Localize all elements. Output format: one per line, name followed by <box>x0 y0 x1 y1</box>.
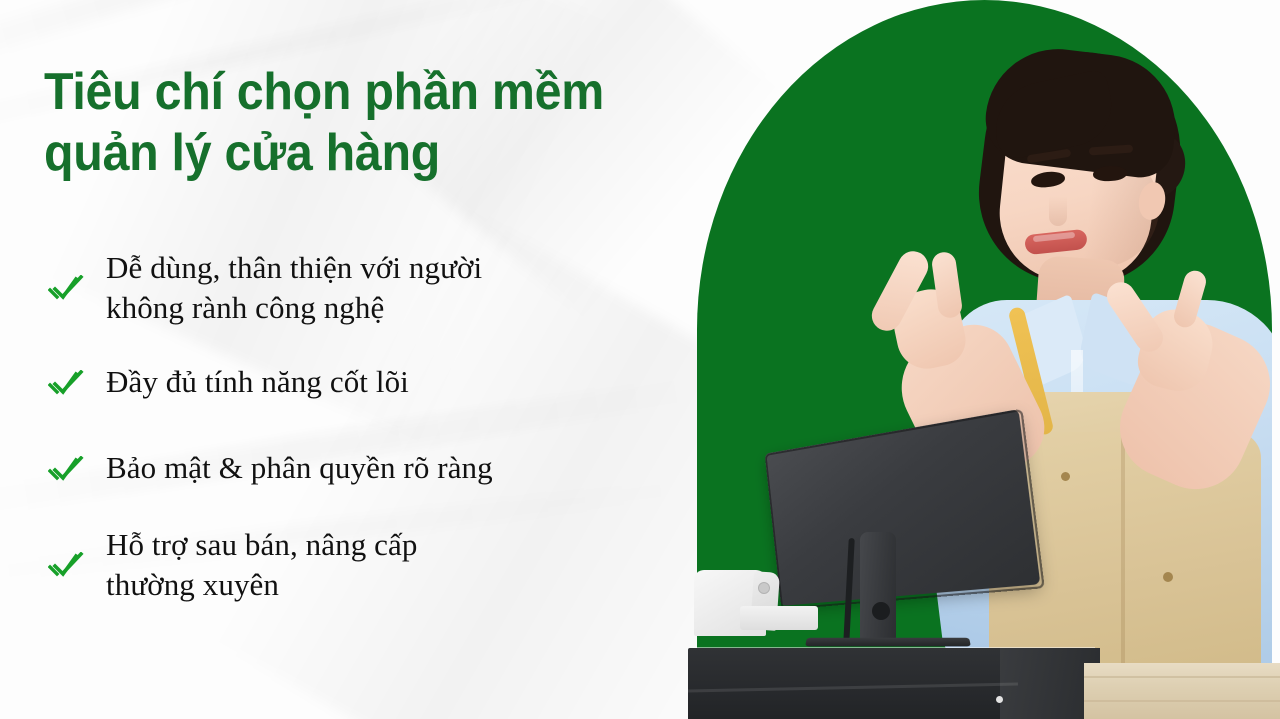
cash-drawer-lock <box>996 696 1003 703</box>
list-item-label: Đầy đủ tính năng cốt lõi <box>106 362 409 402</box>
counter-grain-line-2 <box>1084 700 1280 702</box>
list-item-label: Bảo mật & phân quyền rõ ràng <box>106 448 493 488</box>
wooden-counter <box>1084 663 1280 719</box>
card-reader-button <box>758 582 770 594</box>
counter-grain-line-1 <box>1084 676 1280 678</box>
card-reader-slot <box>740 606 818 630</box>
pos-stand-port <box>872 602 890 620</box>
pos-stand-base <box>805 638 971 647</box>
promo-slide: Tiêu chí chọn phần mềm quản lý cửa hàng … <box>0 0 1280 719</box>
pos-terminal <box>700 420 1120 719</box>
list-item-label: Dễ dùng, thân thiện với người không rành… <box>106 248 482 329</box>
hand-left-pointing <box>873 246 977 374</box>
double-check-icon <box>44 552 106 578</box>
list-item: Bảo mật & phân quyền rõ ràng <box>44 441 704 497</box>
hand-right-pointing <box>1117 270 1227 396</box>
list-item: Dễ dùng, thân thiện với người không rành… <box>44 248 704 329</box>
pos-stand-neck <box>860 532 896 640</box>
page-title: Tiêu chí chọn phần mềm quản lý cửa hàng <box>44 62 649 184</box>
double-check-icon <box>44 275 106 301</box>
list-item-label: Hỗ trợ sau bán, nâng cấp thường xuyên <box>106 525 417 606</box>
criteria-list: Dễ dùng, thân thiện với người không rành… <box>44 248 704 629</box>
double-check-icon <box>44 370 106 396</box>
nose <box>1049 196 1067 226</box>
apron-button-lower <box>1163 572 1173 582</box>
pos-monitor-bezel <box>765 409 1045 610</box>
list-item: Đầy đủ tính năng cốt lõi <box>44 355 704 411</box>
right-edge-sliver <box>1272 0 1280 719</box>
list-item: Hỗ trợ sau bán, nâng cấp thường xuyên <box>44 525 704 606</box>
double-check-icon <box>44 456 106 482</box>
